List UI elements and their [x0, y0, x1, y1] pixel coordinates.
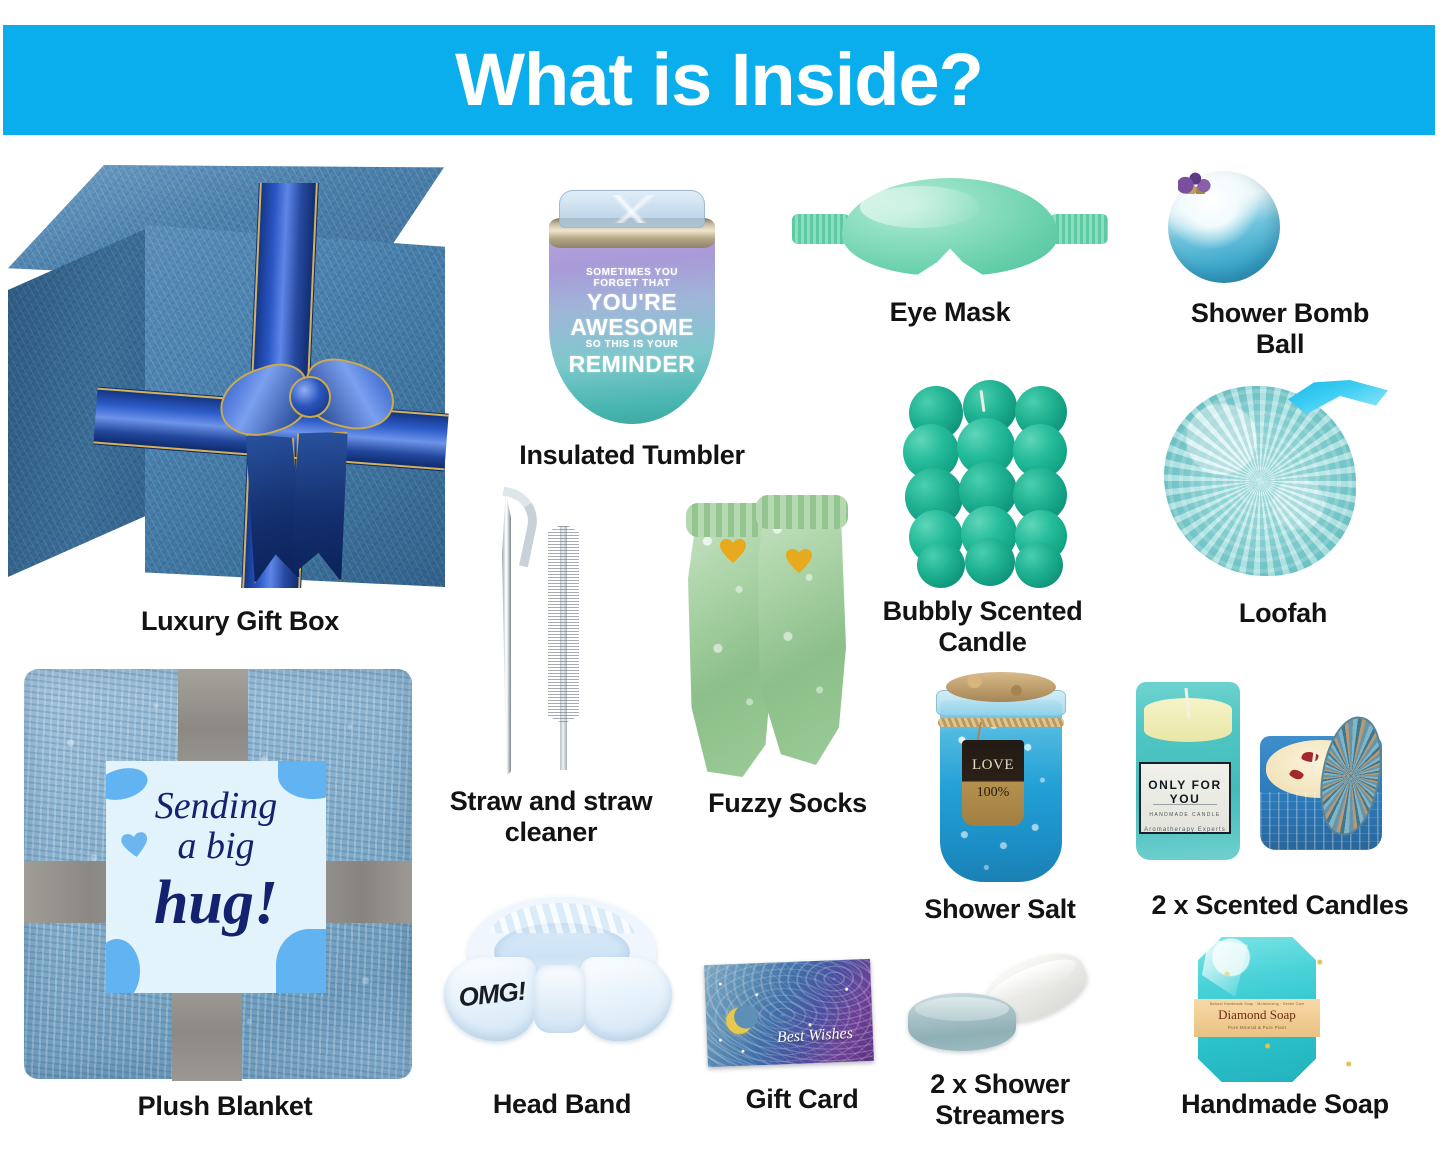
- straw-and-cleaner-image: [436, 490, 666, 780]
- caption-eye-mask: Eye Mask: [790, 297, 1110, 328]
- product-cell-handmade-soap: Natural Handmade Soap · Moisturizing · G…: [1140, 935, 1430, 1120]
- soap-label-micro: Natural Handmade Soap · Moisturizing · G…: [1194, 1002, 1320, 1006]
- caption-fuzzy-socks: Fuzzy Socks: [680, 788, 895, 819]
- caption-plush-blanket: Plush Blanket: [10, 1091, 440, 1122]
- straw-bend: [489, 487, 544, 568]
- label-sub: HANDMADE CANDLE: [1141, 812, 1229, 818]
- product-cell-plush-blanket: Sending a big hug! Plush Blanket: [10, 665, 440, 1122]
- bow-left: OMG!: [444, 957, 536, 1041]
- caption-head-band: Head Band: [442, 1089, 682, 1120]
- dried-flower-icon: [1178, 172, 1214, 194]
- tag-text-love: LOVE: [962, 757, 1024, 774]
- caption-gift-card: Gift Card: [702, 1084, 902, 1115]
- product-cell-luxury-gift-box: Luxury Gift Box: [0, 165, 480, 637]
- candle-label: ONLY FOR YOU HANDMADE CANDLE Aromatherap…: [1139, 762, 1231, 834]
- engraving-line-5: SO THIS IS YOUR: [549, 340, 715, 351]
- fuzzy-socks-image: [680, 495, 895, 780]
- shower-streamers-image: [900, 955, 1100, 1065]
- ribbon-bow-icon: [225, 340, 415, 490]
- bubble-candle-body: [903, 380, 1071, 588]
- caption-shower-bomb-ball: Shower Bomb Ball: [1130, 298, 1430, 361]
- product-cell-eye-mask: Eye Mask: [790, 170, 1110, 328]
- soap-label-band: Natural Handmade Soap · Moisturizing · G…: [1194, 999, 1320, 1037]
- caption-straw-and-cleaner: Straw and straw cleaner: [436, 786, 666, 849]
- soap-label-sub: Pure Mineral & Pure Plant: [1194, 1025, 1320, 1030]
- loofah-image: [1138, 380, 1428, 590]
- caption-line-1: Bubbly Scented: [883, 596, 1083, 626]
- page-title: What is Inside?: [455, 43, 983, 117]
- product-cell-shower-streamers: 2 x Shower Streamers: [900, 955, 1100, 1132]
- page-header-banner: What is Inside?: [3, 25, 1435, 135]
- caption-handmade-soap: Handmade Soap: [1140, 1089, 1430, 1120]
- handmade-soap-image: Natural Handmade Soap · Moisturizing · G…: [1140, 935, 1430, 1085]
- shower-salt-image: LOVE 100%: [900, 668, 1100, 886]
- cork-lid: [946, 672, 1056, 702]
- caption-line-1: 2 x Shower: [930, 1069, 1070, 1099]
- caption-line-2: Candle: [938, 627, 1026, 657]
- product-cell-head-band: OMG! OMG! Head Band: [442, 895, 682, 1120]
- tag-text-percent: 100%: [962, 785, 1024, 801]
- product-cell-shower-bomb-ball: Shower Bomb Ball: [1130, 168, 1430, 361]
- eye-mask-strap-left: [792, 214, 850, 244]
- caption-line-2: cleaner: [505, 817, 597, 847]
- caption-insulated-tumbler: Insulated Tumbler: [487, 440, 777, 471]
- product-cell-bubbly-scented-candle: Bubbly Scented Candle: [865, 378, 1100, 659]
- caption-line-1: Straw and straw: [450, 786, 653, 816]
- caption-scented-candles: 2 x Scented Candles: [1130, 890, 1430, 921]
- plush-blanket-image: Sending a big hug!: [10, 665, 440, 1085]
- caption-shower-salt: Shower Salt: [900, 894, 1100, 925]
- engraving-line-4: AWESOME: [549, 315, 715, 339]
- engraving-line-3: YOU'RE: [549, 290, 715, 314]
- streamer-disc-blue: [908, 993, 1016, 1051]
- product-cell-gift-card: Best Wishes Gift Card: [702, 940, 902, 1115]
- greeting-card-message: Sending a big hug!: [106, 787, 326, 937]
- caption-line-2: Ball: [1256, 329, 1304, 359]
- caption-bubbly-scented-candle: Bubbly Scented Candle: [865, 596, 1100, 659]
- scented-candles-image: ONLY FOR YOU HANDMADE CANDLE Aromatherap…: [1130, 670, 1430, 882]
- product-cell-shower-salt: LOVE 100% Shower Salt: [900, 668, 1100, 925]
- bow-text-left: OMG!: [445, 974, 540, 1014]
- head-band-image: OMG! OMG!: [442, 895, 682, 1085]
- caption-loofah: Loofah: [1138, 598, 1428, 629]
- caption-shower-streamers: 2 x Shower Streamers: [900, 1069, 1100, 1132]
- eye-mask-image: [790, 170, 1110, 285]
- product-cell-scented-candles: ONLY FOR YOU HANDMADE CANDLE Aromatherap…: [1130, 670, 1430, 921]
- label-brand: ONLY FOR YOU: [1141, 778, 1229, 806]
- product-cell-loofah: Loofah: [1138, 380, 1428, 629]
- tumbler-engraving: SOMETIMES YOU FORGET THAT YOU'RE AWESOME…: [549, 268, 715, 377]
- twine-string: [938, 718, 1064, 727]
- gift-card-front: Best Wishes: [704, 959, 874, 1067]
- card-line-1: Sending: [106, 787, 326, 826]
- card-line-2: a big: [106, 826, 326, 868]
- jar-hang-tag: LOVE 100%: [962, 740, 1024, 826]
- engraving-line-2: FORGET THAT: [549, 279, 715, 290]
- product-cell-insulated-tumbler: SOMETIMES YOU FORGET THAT YOU'RE AWESOME…: [487, 180, 777, 471]
- card-line-3: hug!: [106, 870, 326, 937]
- caption-line-2: Streamers: [935, 1100, 1064, 1130]
- caption-line-1: Shower Bomb: [1191, 298, 1369, 328]
- caption-luxury-gift-box: Luxury Gift Box: [0, 606, 480, 637]
- insulated-tumbler-image: SOMETIMES YOU FORGET THAT YOU'RE AWESOME…: [487, 180, 777, 430]
- bow-knot: [534, 965, 586, 1033]
- engraving-line-6: REMINDER: [549, 352, 715, 376]
- eye-mask-strap-right: [1050, 214, 1108, 244]
- luxury-gift-box-image: [0, 165, 480, 600]
- product-cell-fuzzy-socks: Fuzzy Socks: [680, 495, 895, 819]
- shower-bomb-ball-image: [1130, 168, 1430, 288]
- bubbly-scented-candle-image: [865, 378, 1100, 590]
- soap-label-name: Diamond Soap: [1194, 1007, 1320, 1023]
- gift-card-image: Best Wishes: [702, 940, 902, 1080]
- engraving-line-1: SOMETIMES YOU: [549, 268, 715, 279]
- label-tagline: Aromatherapy Experts: [1141, 827, 1229, 833]
- tumbler-lid: [559, 190, 705, 228]
- bow-right: OMG!: [580, 957, 672, 1041]
- product-cell-straw-and-cleaner: Straw and straw cleaner: [436, 490, 666, 849]
- sock-right: [758, 497, 846, 765]
- cleaner-bristles: [548, 526, 579, 722]
- loofah-mesh-ball: [1164, 386, 1356, 576]
- greeting-card: Sending a big hug!: [106, 761, 326, 993]
